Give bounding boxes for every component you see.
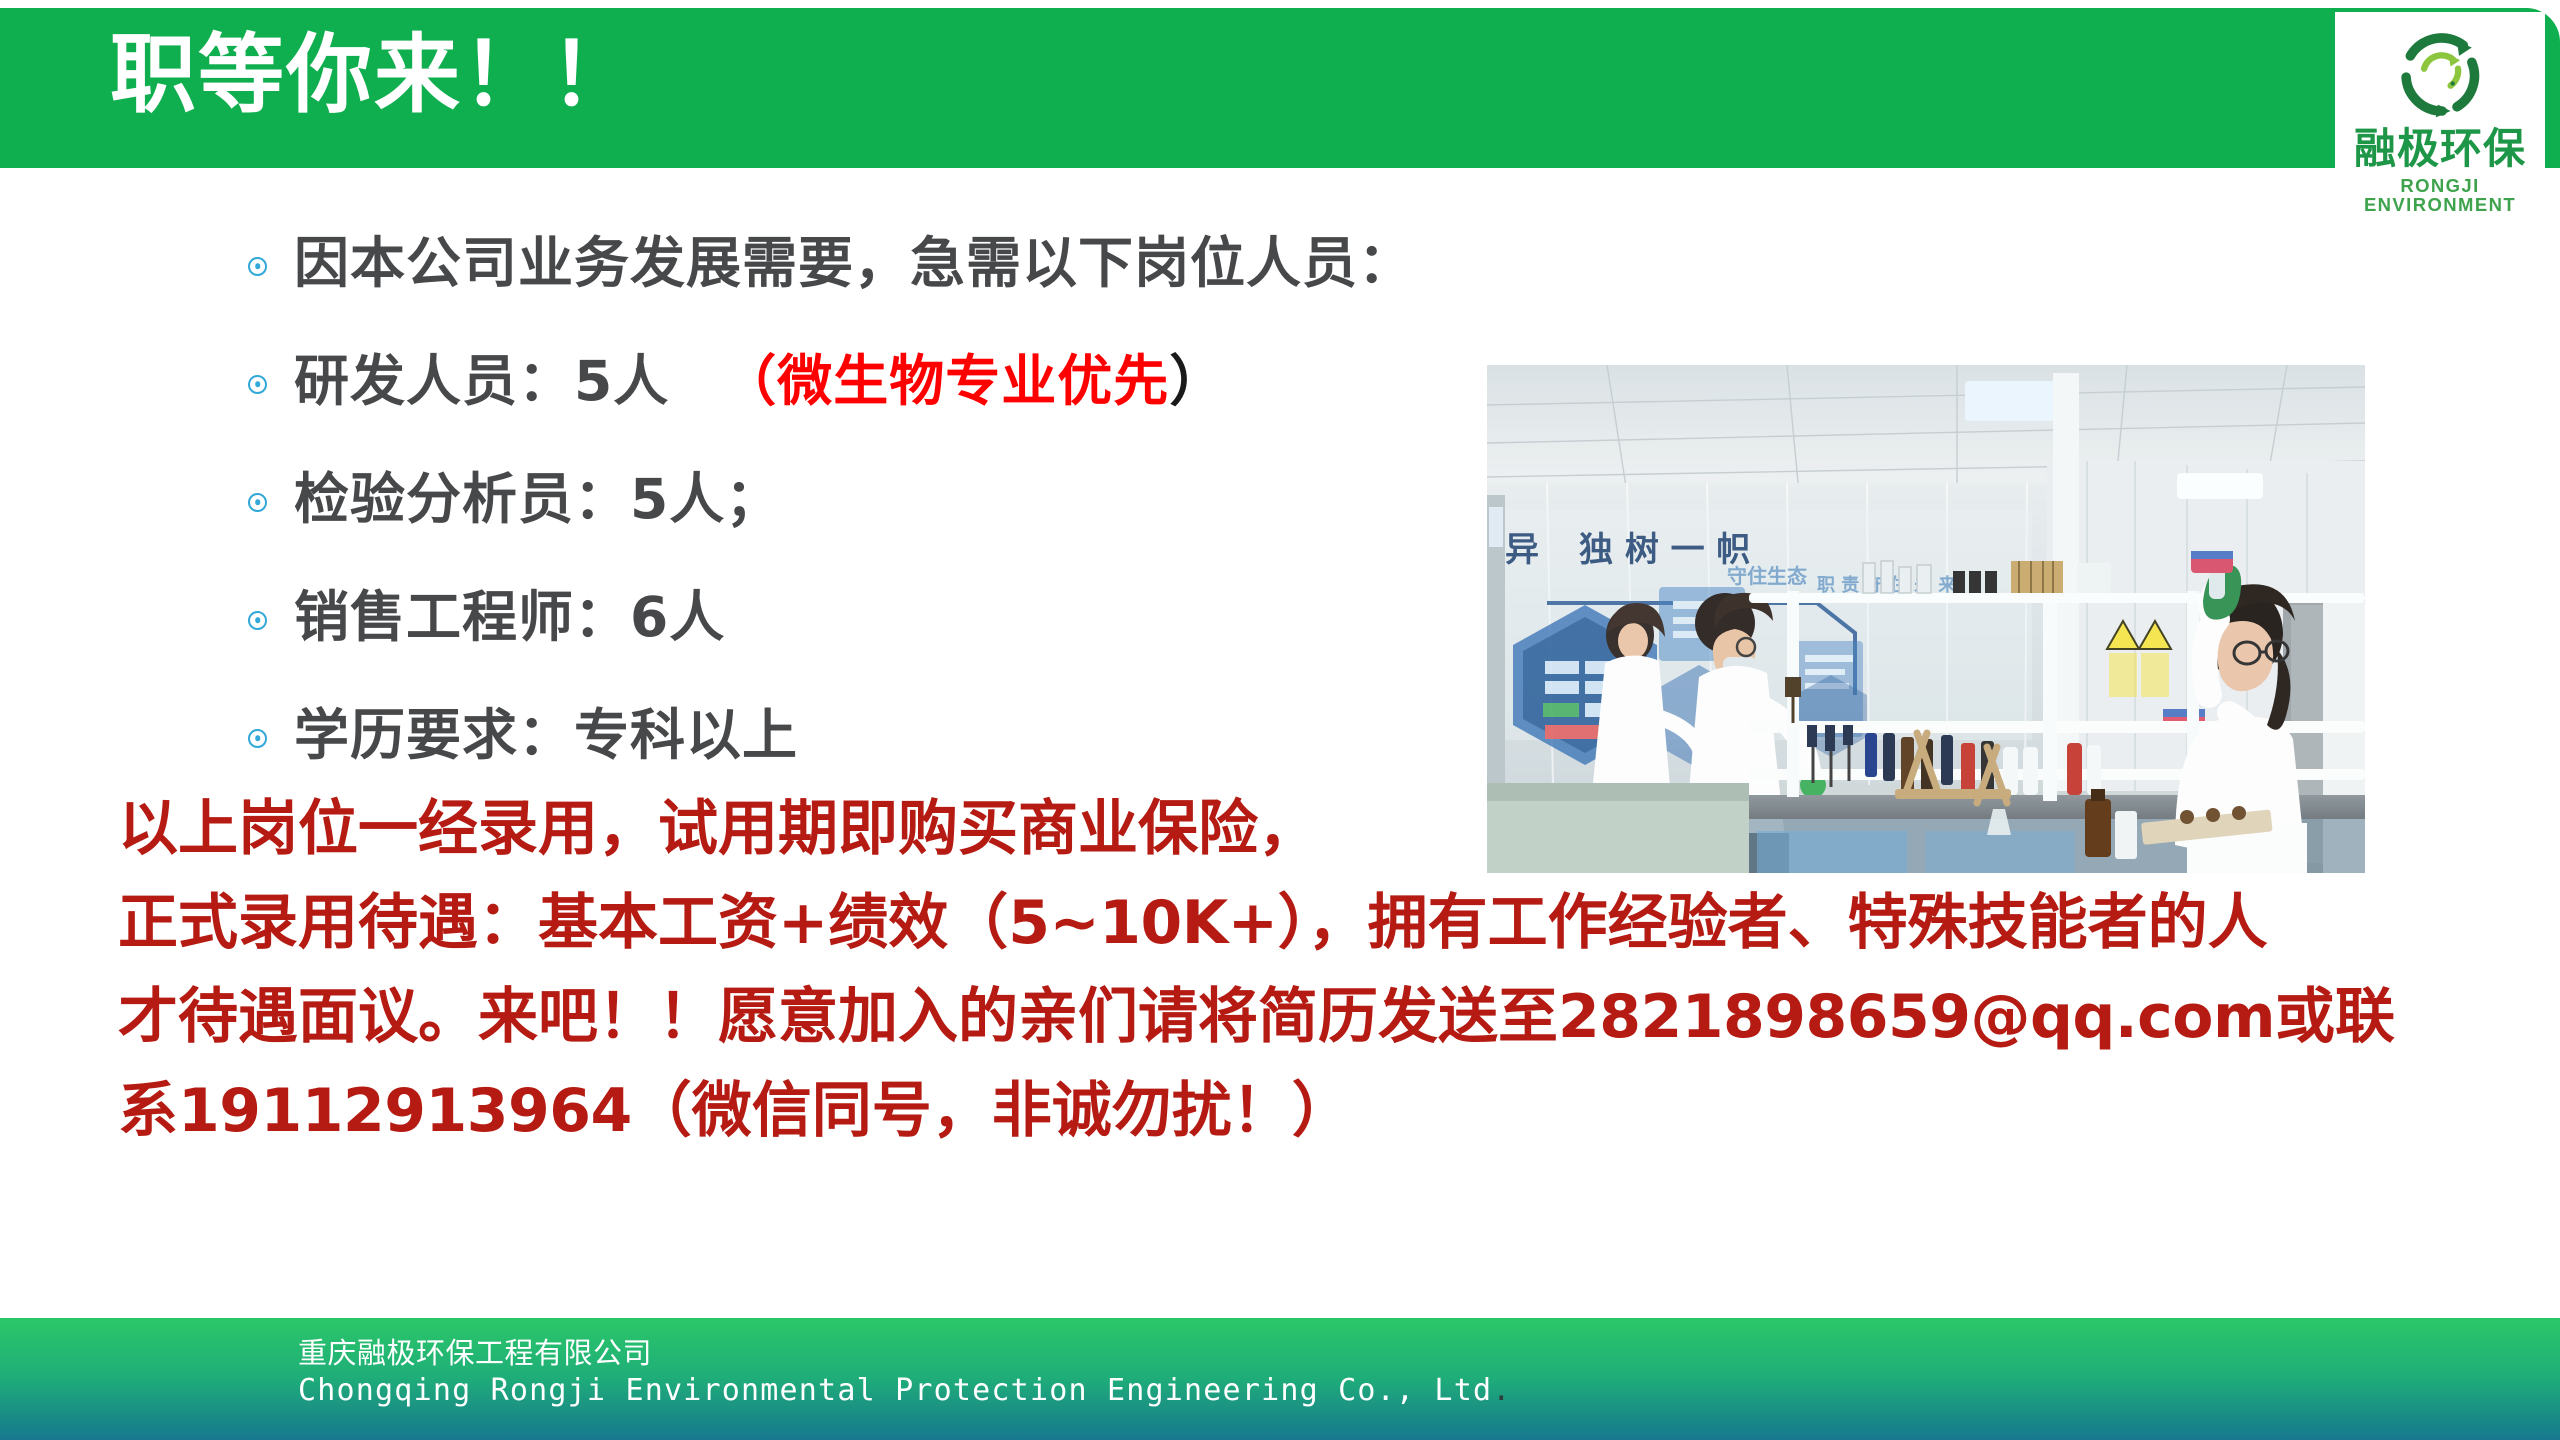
contact-phone[interactable]: 19112913964 (178, 1076, 632, 1146)
red-line-3: 才待遇面议。来吧！！愿意加入的亲们请将简历发送至2821898659@qq.co… (118, 970, 2508, 1064)
bullet-circle-icon (248, 253, 294, 276)
list-item-label: 因本公司业务发展需要，急需以下岗位人员： (294, 231, 1414, 295)
red-line-2: 正式录用待遇：基本工资+绩效（5~10K+），拥有工作经验者、特殊技能者的人 (118, 876, 2508, 970)
bullet-circle-icon (248, 607, 294, 630)
list-item: 学历要求：专科以上 (248, 677, 1548, 795)
priority-note-close: ） (1169, 349, 1225, 413)
priority-note: （微生物专业优先 (721, 349, 1169, 413)
contact-email[interactable]: 2821898659@qq.com (1558, 982, 2275, 1052)
list-item-label: 研发人员：5人 (294, 349, 669, 413)
list-item-label: 学历要求：专科以上 (294, 703, 798, 767)
page-title: 职等你来！！ (110, 28, 638, 123)
red-line-1: 以上岗位一经录用，试用期即购买商业保险， (118, 782, 2508, 876)
bullet-circle-icon (248, 371, 294, 394)
footer-company-en-period: . (1492, 1373, 1511, 1408)
company-logo: 融极环保 RONGJI ENVIRONMENT (2335, 12, 2545, 218)
footer-company-en: Chongqing Rongji Environmental Protectio… (298, 1373, 1511, 1408)
footer-company-en-text: Chongqing Rongji Environmental Protectio… (298, 1373, 1492, 1408)
bullet-circle-icon (248, 489, 294, 512)
logo-english-name: RONGJI ENVIRONMENT (2335, 177, 2545, 214)
salary-suffix: ），拥有工作经验者、特殊技能者的人 (1278, 888, 2268, 958)
resume-suffix: 或联 (2275, 982, 2395, 1052)
red-line-4: 系19112913964（微信同号，非诚勿扰！） (118, 1064, 2508, 1158)
list-item: 检验分析员：5人； (248, 441, 1548, 559)
resume-prefix: 才待遇面议。来吧！！愿意加入的亲们请将简历发送至 (118, 982, 1558, 1052)
list-item-label: 检验分析员：5人； (294, 467, 781, 531)
footer-bar: 重庆融极环保工程有限公司 Chongqing Rongji Environmen… (0, 1318, 2560, 1440)
footer-company-cn: 重庆融极环保工程有限公司 (298, 1330, 652, 1372)
bullet-circle-icon (248, 725, 294, 748)
list-item: 销售工程师：6人 (248, 559, 1548, 677)
list-item-label: 销售工程师：6人 (294, 585, 725, 649)
job-positions-list: 因本公司业务发展需要，急需以下岗位人员： 研发人员：5人（微生物专业优先） 检验… (248, 205, 1548, 795)
list-item: 研发人员：5人（微生物专业优先） (248, 323, 1548, 441)
recycling-circle-icon (2387, 22, 2493, 128)
phone-suffix: （微信同号，非诚勿扰！） (632, 1076, 1352, 1146)
recruitment-details-paragraph: 以上岗位一经录用，试用期即购买商业保险， 正式录用待遇：基本工资+绩效（5~10… (118, 782, 2508, 1158)
list-item: 因本公司业务发展需要，急需以下岗位人员： (248, 205, 1548, 323)
salary-prefix: 正式录用待遇：基本工资+绩效（ (118, 888, 1008, 958)
phone-prefix: 系 (118, 1076, 178, 1146)
salary-range: 5~10K+ (1008, 888, 1277, 958)
logo-chinese-name: 融极环保 (2335, 128, 2545, 170)
